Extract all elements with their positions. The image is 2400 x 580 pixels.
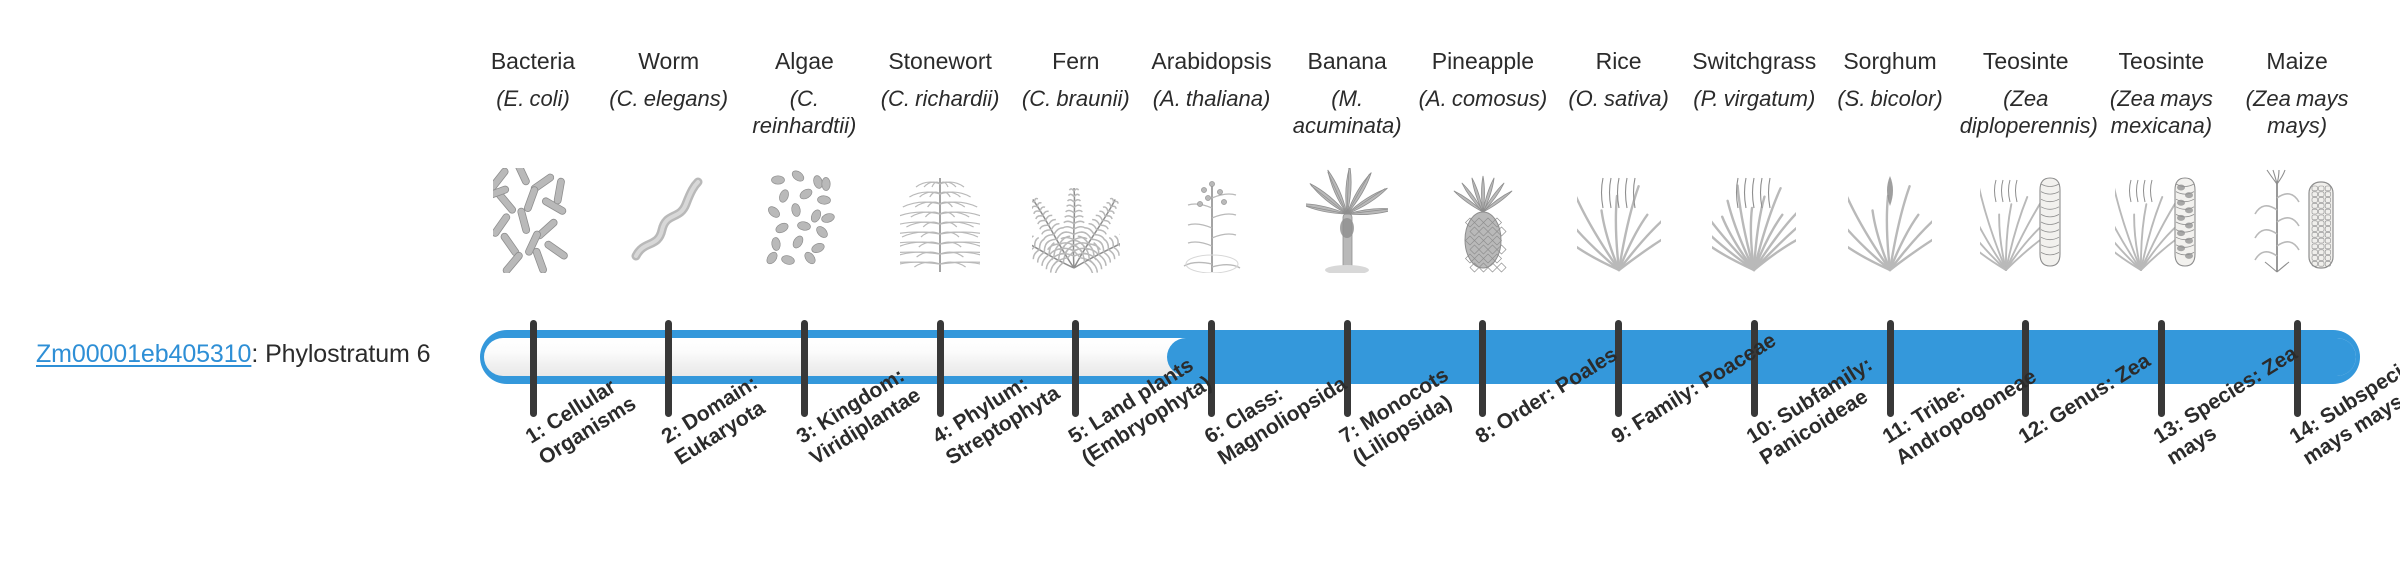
species-latin-name: (E. coli) xyxy=(467,85,599,112)
arabidopsis-icon xyxy=(1146,168,1278,273)
species-latin-name: (M. acuminata) xyxy=(1281,85,1413,139)
species-header-maize: Maize(Zea mays mays) xyxy=(2231,46,2363,139)
species-common-name: Rice xyxy=(1553,46,1685,76)
species-latin-name: (C. richardii) xyxy=(874,85,1006,112)
species-common-name: Maize xyxy=(2231,46,2363,76)
worm-icon xyxy=(603,168,735,273)
species-latin-name: (Zea diploperennis) xyxy=(1960,85,2092,139)
phylostratum-timeline-figure: Zm00001eb405310: Phylostratum 6 Bacteria… xyxy=(0,0,2400,580)
rice-icon xyxy=(1553,168,1685,273)
species-header-algae: Algae(C. reinhardtii) xyxy=(738,46,870,139)
species-latin-name: (C. braunii) xyxy=(1010,85,1142,112)
gene-id-link[interactable]: Zm00001eb405310 xyxy=(36,340,251,368)
banana-icon xyxy=(1281,168,1413,273)
species-header-worm: Worm(C. elegans) xyxy=(603,46,735,112)
species-latin-name: (S. bicolor) xyxy=(1824,85,1956,112)
rank-name: Cellular Organisms xyxy=(535,375,640,470)
rank-name: Class: Magnoliopsida xyxy=(1213,372,1350,469)
gene-phylostratum-label: Zm00001eb405310: Phylostratum 6 xyxy=(36,340,430,369)
species-common-name: Switchgrass xyxy=(1688,46,1820,76)
species-header-switchgrass: Switchgrass(P. virgatum) xyxy=(1688,46,1820,112)
teosinte-mexicana-icon xyxy=(2095,168,2227,273)
rank-number: 9: xyxy=(1607,419,1635,448)
rank-number: 8: xyxy=(1471,419,1499,448)
species-header-teosinte: Teosinte(Zea diploperennis) xyxy=(1960,46,2092,139)
species-header-teosinte: Teosinte(Zea mays mexicana) xyxy=(2095,46,2227,139)
species-header-sorghum: Sorghum(S. bicolor) xyxy=(1824,46,1956,112)
bacteria-icon xyxy=(467,168,599,273)
species-latin-name: (Zea mays mexicana) xyxy=(2095,85,2227,139)
species-latin-name: (A. thaliana) xyxy=(1146,85,1278,112)
fern-icon xyxy=(1010,168,1142,273)
species-common-name: Teosinte xyxy=(2095,46,2227,76)
species-common-name: Algae xyxy=(738,46,870,76)
species-latin-name: (P. virgatum) xyxy=(1688,85,1820,112)
species-latin-name: (Zea mays mays) xyxy=(2231,85,2363,139)
species-header-pineapple: Pineapple(A. comosus) xyxy=(1417,46,1549,112)
species-common-name: Fern xyxy=(1010,46,1142,76)
species-header-arabidopsis: Arabidopsis(A. thaliana) xyxy=(1146,46,1278,112)
species-common-name: Stonewort xyxy=(874,46,1006,76)
species-common-name: Worm xyxy=(603,46,735,76)
phylostratum-value-text: Phylostratum 6 xyxy=(265,340,430,368)
teosinte-diploperennis-icon xyxy=(1960,168,2092,273)
stonewort-icon xyxy=(874,168,1006,273)
species-header-stonewort: Stonewort(C. richardii) xyxy=(874,46,1006,112)
tick-mark-1 xyxy=(530,320,537,417)
sorghum-icon xyxy=(1824,168,1956,273)
species-latin-name: (C. elegans) xyxy=(603,85,735,112)
maize-icon xyxy=(2231,168,2363,273)
rank-name: Phylum: Streptophyta xyxy=(942,372,1064,470)
species-latin-name: (C. reinhardtii) xyxy=(738,85,870,139)
switchgrass-icon xyxy=(1688,168,1820,273)
species-common-name: Arabidopsis xyxy=(1146,46,1278,76)
pineapple-icon xyxy=(1417,168,1549,273)
species-common-name: Pineapple xyxy=(1417,46,1549,76)
species-latin-name: (A. comosus) xyxy=(1417,85,1549,112)
species-header-rice: Rice(O. sativa) xyxy=(1553,46,1685,112)
species-common-name: Teosinte xyxy=(1960,46,2092,76)
rank-name: Domain: Eukaryota xyxy=(670,371,768,469)
species-header-banana: Banana(M. acuminata) xyxy=(1281,46,1413,139)
species-common-name: Bacteria xyxy=(467,46,599,76)
species-header-fern: Fern(C. braunii) xyxy=(1010,46,1142,112)
species-latin-name: (O. sativa) xyxy=(1553,85,1685,112)
species-common-name: Sorghum xyxy=(1824,46,1956,76)
species-header-bacteria: Bacteria(E. coli) xyxy=(467,46,599,112)
species-common-name: Banana xyxy=(1281,46,1413,76)
algae-icon xyxy=(738,168,870,273)
rank-number: 12: xyxy=(2014,413,2052,449)
gene-label-separator: : xyxy=(251,340,265,368)
